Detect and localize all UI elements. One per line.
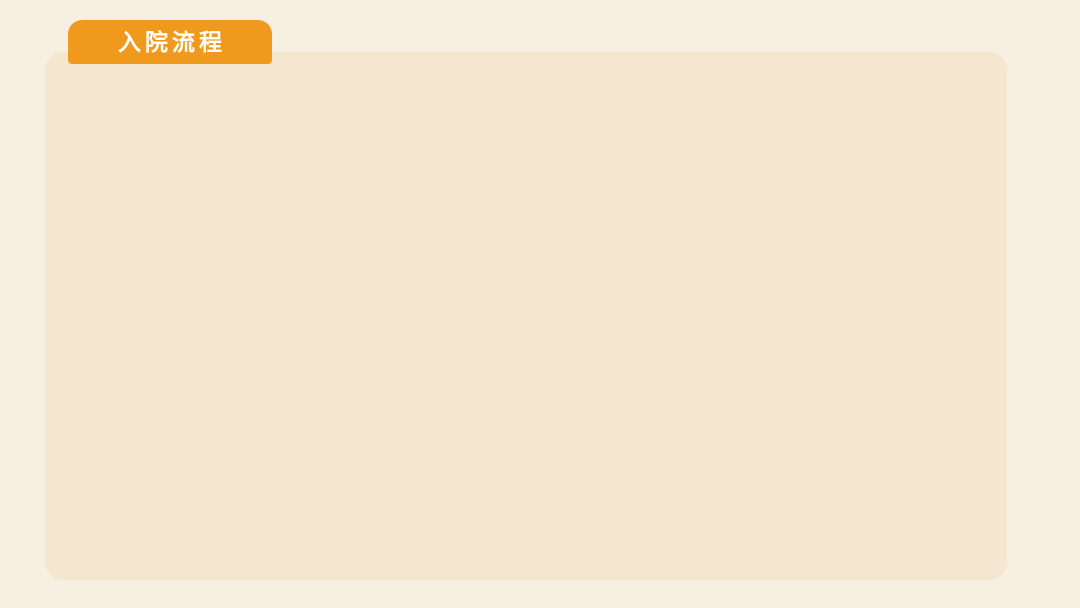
content-panel [45, 52, 1007, 580]
page-title-badge: 入院流程 [68, 20, 272, 64]
page-title: 入院流程 [114, 31, 226, 54]
infographic-page: 入院流程 医保急诊患者 医保急诊患者 出入院结算窗口 携带加盖急诊章的住院证、身… [0, 0, 1080, 608]
